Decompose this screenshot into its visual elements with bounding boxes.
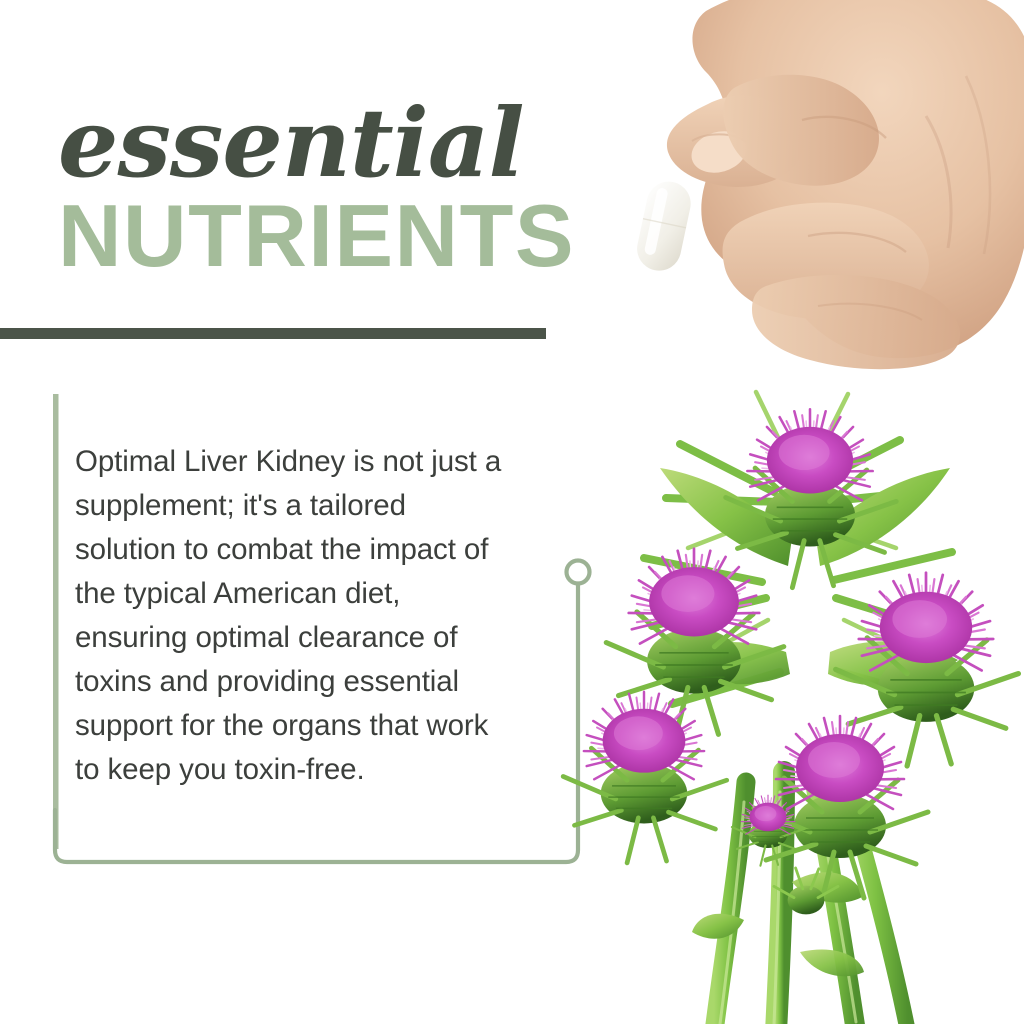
white-capsule: [633, 178, 695, 275]
thistle-blooms: [563, 409, 1018, 900]
headline-divider-rule: [0, 328, 546, 339]
milk-thistle-image: [548, 352, 1024, 1024]
headline-script-word: essential: [58, 96, 524, 191]
body-paragraph: Optimal Liver Kidney is not just a suppl…: [75, 440, 555, 792]
frame-left-rule: [53, 394, 59, 849]
headline-block: essential NUTRIENTS: [0, 96, 600, 346]
headline-bold-word: NUTRIENTS: [58, 192, 575, 280]
hand-holding-capsule-image: [556, 0, 1024, 386]
poster-canvas: essential NUTRIENTS Optimal Liver Kidney…: [0, 0, 1024, 1024]
